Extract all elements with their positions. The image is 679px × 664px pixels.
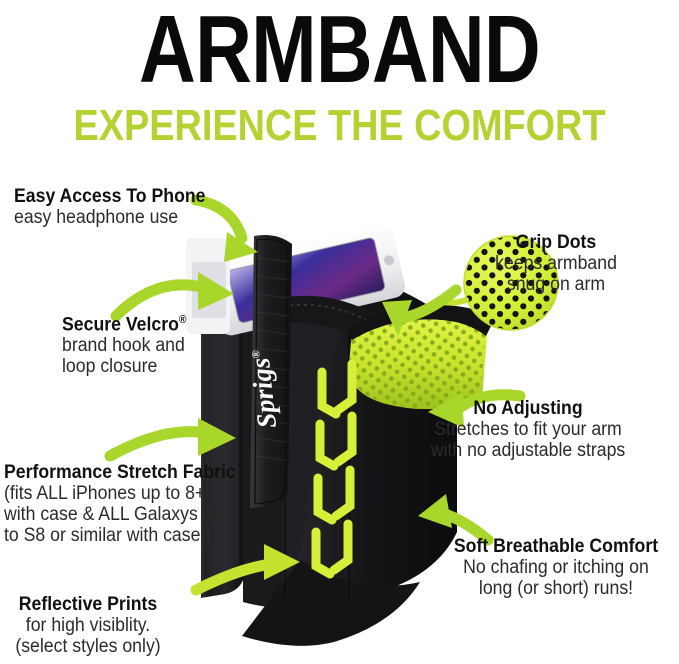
callout-performance-line-1: (fits ALL iPhones up to 8+: [4, 483, 236, 504]
callout-secure-velcro-line-1: brand hook and: [62, 335, 186, 356]
callout-grip-dots-line-1: keeps armband: [495, 253, 617, 274]
callout-performance-stretch-fabric: Performance Stretch Fabric (fits ALL iPh…: [4, 462, 253, 546]
callout-performance-line-2: with case & ALL Galaxys up: [4, 504, 236, 525]
callout-reflective-prints: Reflective Prints for high visiblity. (s…: [10, 594, 166, 657]
callout-soft-breathable-line-2: long (or short) runs!: [454, 578, 658, 599]
callout-soft-breathable-comfort: Soft Breathable Comfort No chafing or it…: [446, 536, 666, 599]
callout-reflective-line-1: for high visiblity.: [15, 615, 160, 636]
callout-soft-breathable-line-1: No chafing or itching on: [454, 557, 658, 578]
callout-grip-dots-line-2: snug on arm: [495, 274, 617, 295]
callout-easy-access: Easy Access To Phone easy headphone use: [14, 186, 220, 228]
registered-trademark-icon: ®: [179, 314, 187, 326]
callout-easy-access-title: Easy Access To Phone: [14, 186, 206, 207]
callout-no-adjusting-line-1: Stretches to fit your arm: [431, 419, 625, 440]
callout-soft-breathable-title: Soft Breathable Comfort: [454, 536, 658, 557]
callout-grip-dots: Grip Dots keeps armband snug on arm: [491, 232, 622, 295]
callout-no-adjusting-title: No Adjusting: [431, 398, 625, 419]
callout-reflective-line-2: (select styles only): [15, 636, 160, 657]
callout-grip-dots-title: Grip Dots: [495, 232, 617, 253]
callout-easy-access-line-1: easy headphone use: [14, 207, 206, 228]
infographic-canvas: ARMBAND EXPERIENCE THE COMFORT: [0, 0, 679, 664]
callout-reflective-title: Reflective Prints: [15, 594, 160, 615]
callout-no-adjusting: No Adjusting Stretches to fit your arm w…: [423, 398, 632, 461]
callout-secure-velcro-title-text: Secure Velcro: [62, 314, 179, 335]
callout-secure-velcro-line-2: loop closure: [62, 356, 186, 377]
callout-performance-title: Performance Stretch Fabric: [4, 462, 236, 483]
callout-no-adjusting-line-2: with no adjustable straps: [431, 440, 625, 461]
callout-secure-velcro-title: Secure Velcro®: [62, 310, 186, 335]
callout-performance-line-3: to S8 or similar with case.): [4, 525, 236, 546]
callout-secure-velcro: Secure Velcro® brand hook and loop closu…: [62, 310, 196, 377]
